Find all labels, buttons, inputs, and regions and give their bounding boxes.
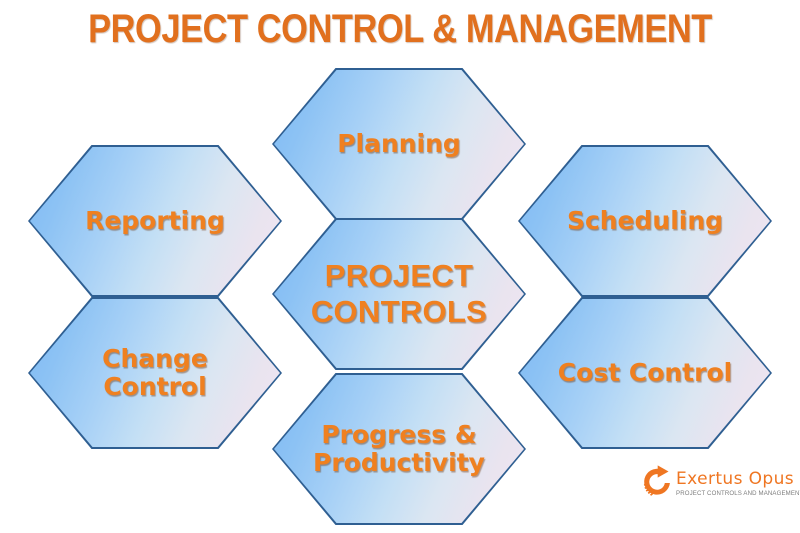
hex-face: Cost Control (520, 299, 770, 447)
hex-face: Reporting (30, 147, 280, 295)
hex-label: Change Control (96, 345, 214, 401)
brand-logo[interactable]: Exertus Opus PROJECT CONTROLS AND MANAGE… (640, 458, 790, 506)
circular-arrow-icon (640, 464, 674, 498)
hex-node-scheduling[interactable]: Scheduling (518, 145, 772, 297)
hex-face: Planning (274, 70, 524, 218)
hex-face: Change Control (30, 299, 280, 447)
hex-label-center: PROJECT CONTROLS (305, 258, 493, 329)
hex-label: Cost Control (552, 359, 738, 387)
hex-node-planning[interactable]: Planning (272, 68, 526, 220)
hex-label: Reporting (79, 207, 231, 235)
hex-node-progress-productivity[interactable]: Progress & Productivity (272, 373, 526, 525)
hex-node-cost-control[interactable]: Cost Control (518, 297, 772, 449)
honeycomb-diagram: Planning Reporting Scheduling Change Con… (0, 0, 800, 533)
logo-tagline: PROJECT CONTROLS AND MANAGEMENT (676, 491, 800, 497)
logo-text-block: Exertus Opus PROJECT CONTROLS AND MANAGE… (676, 471, 800, 497)
hex-face: Progress & Productivity (274, 375, 524, 523)
hex-label: Progress & Productivity (307, 421, 491, 477)
hex-face: PROJECT CONTROLS (274, 220, 524, 368)
hex-label: Planning (331, 130, 467, 158)
hex-label: Scheduling (561, 207, 729, 235)
hex-node-change-control[interactable]: Change Control (28, 297, 282, 449)
hex-node-reporting[interactable]: Reporting (28, 145, 282, 297)
logo-wordmark: Exertus Opus (676, 471, 800, 488)
hex-face: Scheduling (520, 147, 770, 295)
hex-node-project-controls[interactable]: PROJECT CONTROLS (272, 218, 526, 370)
